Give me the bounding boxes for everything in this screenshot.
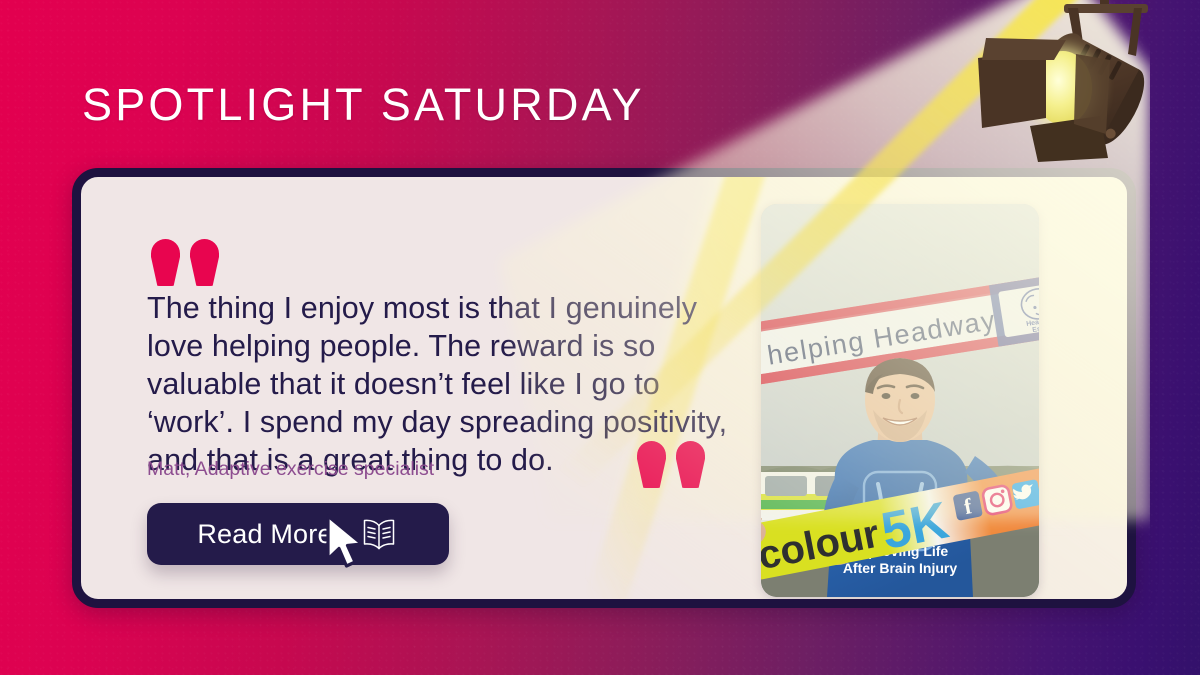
quote-mark-close [637,441,705,488]
photo-shirt-line-2: After Brain Injury [843,560,958,576]
stage-spotlight-icon [960,0,1200,194]
page-title: SPOTLIGHT SATURDAY [82,82,645,127]
quote-attribution: Matt, Adaptive exercise specialist [147,457,434,481]
read-more-button[interactable]: Read More [147,503,449,565]
read-more-label: Read More [197,519,332,550]
quote-mark-open [151,239,219,286]
instagram-icon [982,485,1012,515]
quote-card: The thing I enjoy most is that I genuine… [72,168,1136,608]
photo-thumbnail: Headway Essex re helping Headway [761,204,1039,597]
open-book-icon [359,517,399,551]
poster-canvas: SPOTLIGHT SATURDAY [0,0,1200,675]
